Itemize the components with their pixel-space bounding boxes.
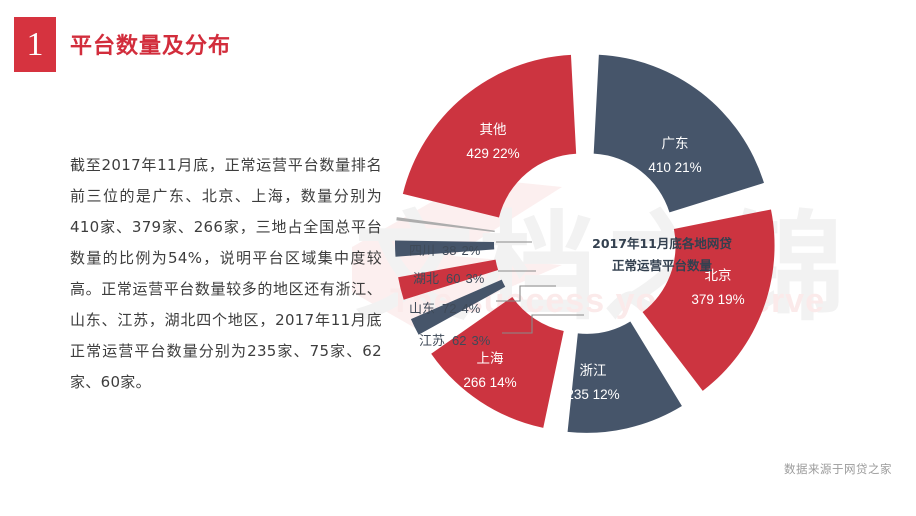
slice-label-value-广东: 410 21% <box>648 160 701 175</box>
callout-sichuan: 四川382% <box>409 240 480 259</box>
center-label-line1: 2017年11月底各地网贷 <box>592 233 732 255</box>
slice-label-value-其他: 429 22% <box>466 146 519 161</box>
callout-percent: 4% <box>461 301 480 316</box>
center-label-line2: 正常运营平台数量 <box>592 255 732 277</box>
callout-percent: 3% <box>465 271 484 286</box>
data-source-note: 数据来源于网贷之家 <box>784 461 892 477</box>
pie-slice-四川[interactable] <box>396 217 494 232</box>
slice-label-value-上海: 266 14% <box>463 375 516 390</box>
body-paragraph: 截至2017年11月底，正常运营平台数量排名前三位的是广东、北京、上海，数量分别… <box>70 150 382 398</box>
leader-line-shandong <box>496 286 556 301</box>
slide: 文档之锦 The success you deserve 1 平台数量及分布 截… <box>0 0 916 516</box>
slice-label-value-北京: 379 19% <box>691 292 744 307</box>
slice-label-name-浙江: 浙江 <box>580 363 607 379</box>
callout-name: 山东 <box>409 302 435 317</box>
callout-hubei: 湖北603% <box>413 268 484 287</box>
callout-jiangsu: 江苏623% <box>419 330 490 349</box>
slice-label-name-广东: 广东 <box>662 136 689 152</box>
callout-value: 72 <box>442 301 456 316</box>
slice-label-name-上海: 上海 <box>477 351 504 367</box>
chart-center-label: 2017年11月底各地网贷 正常运营平台数量 <box>592 233 732 277</box>
callout-percent: 2% <box>461 243 480 258</box>
page-title: 平台数量及分布 <box>70 28 231 60</box>
callout-value: 60 <box>446 271 460 286</box>
slice-label-value-浙江: 235 12% <box>566 387 619 402</box>
callout-percent: 3% <box>471 333 490 348</box>
pie-slice-广东[interactable] <box>594 55 764 213</box>
callout-value: 38 <box>442 243 456 258</box>
callout-name: 湖北 <box>413 272 439 287</box>
section-number-badge: 1 <box>14 17 56 72</box>
callout-name: 四川 <box>409 244 435 259</box>
slice-label-name-其他: 其他 <box>480 122 507 138</box>
callout-name: 江苏 <box>419 334 445 349</box>
callout-shandong: 山东724% <box>409 298 480 317</box>
callout-value: 62 <box>452 333 466 348</box>
